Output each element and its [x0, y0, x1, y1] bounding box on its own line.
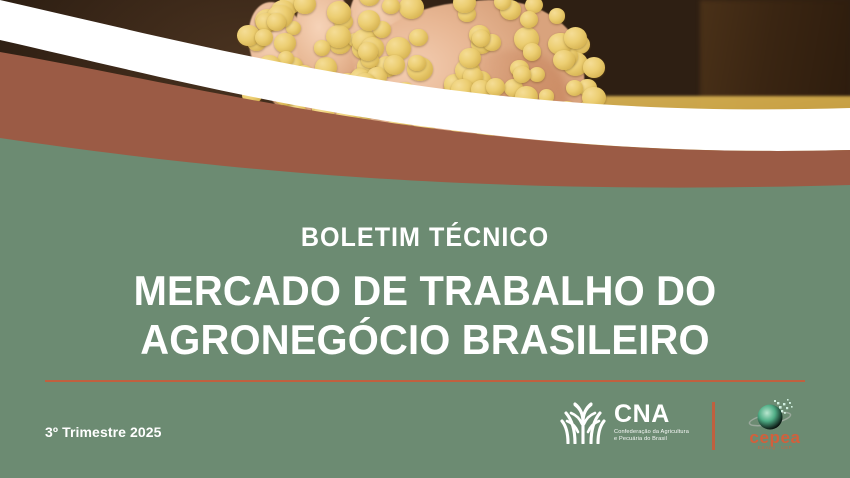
cepea-globe-icon — [748, 398, 800, 432]
soybean — [305, 129, 325, 148]
soybean — [327, 1, 351, 23]
soybean — [515, 86, 538, 107]
soybean — [258, 55, 281, 76]
soybean-cluster — [230, 0, 700, 161]
cna-text-block: CNA Confederação da Agricultura e Pecuár… — [614, 402, 689, 443]
cover-slide: BOLETIM TÉCNICO MERCADO DE TRABALHO DO A… — [0, 0, 850, 478]
soybean — [392, 87, 416, 109]
period-label: 3º Trimestre 2025 — [45, 424, 162, 440]
soybean — [321, 72, 346, 95]
cover-photo — [0, 0, 850, 215]
soybean — [326, 25, 351, 48]
soybean — [549, 8, 565, 23]
soybean — [409, 29, 428, 47]
soybean — [358, 42, 378, 61]
cepea-tagline: ESALQ · USP — [738, 445, 812, 450]
cna-wheat-fan-icon — [560, 400, 606, 444]
soybean — [486, 78, 505, 96]
soybean — [420, 147, 446, 171]
soybean — [459, 48, 481, 68]
cepea-wordmark: cepea — [738, 429, 812, 446]
soybean — [399, 0, 424, 19]
document-kicker: BOLETIM TÉCNICO — [30, 222, 821, 253]
cepea-logo[interactable]: cepea ESALQ · USP — [738, 398, 812, 454]
soybean — [255, 29, 273, 45]
soybean — [384, 55, 405, 75]
soybean — [312, 106, 335, 128]
horizontal-divider — [45, 380, 805, 382]
soybean — [359, 0, 379, 6]
soybean — [274, 33, 295, 53]
soybean — [340, 140, 365, 164]
soybean — [542, 111, 568, 135]
cna-subtitle: Confederação da Agricultura e Pecuária d… — [614, 429, 689, 443]
title-line-1: MERCADO DE TRABALHO DO — [21, 266, 829, 315]
soybean — [564, 27, 588, 49]
logo-separator — [712, 402, 715, 450]
page-title: MERCADO DE TRABALHO DO AGRONEGÓCIO BRASI… — [21, 266, 829, 364]
soybean — [408, 55, 425, 71]
cna-subtitle-line-1: Confederação da Agricultura — [614, 429, 689, 436]
cna-logo[interactable]: CNA Confederação da Agricultura e Pecuár… — [560, 400, 689, 444]
soybean — [382, 0, 399, 14]
soybean — [294, 0, 315, 14]
soybean — [583, 57, 605, 77]
soybean — [553, 50, 575, 70]
title-line-2: AGRONEGÓCIO BRASILEIRO — [21, 315, 829, 364]
logo-row: CNA Confederação da Agricultura e Pecuár… — [560, 400, 810, 452]
soybean — [294, 65, 315, 84]
soybean — [314, 40, 331, 56]
soybean — [358, 10, 380, 30]
soybean — [468, 138, 492, 160]
cna-wordmark: CNA — [614, 402, 689, 427]
soybean — [582, 87, 605, 109]
soybean — [273, 84, 296, 105]
cna-subtitle-line-2: e Pecuária do Brasil — [614, 436, 689, 443]
soybean — [520, 11, 538, 28]
soybean — [267, 13, 286, 31]
soybean — [539, 89, 555, 104]
soybean — [513, 66, 531, 83]
soybean — [523, 43, 542, 60]
soybean — [465, 117, 480, 131]
soybean — [413, 119, 433, 138]
